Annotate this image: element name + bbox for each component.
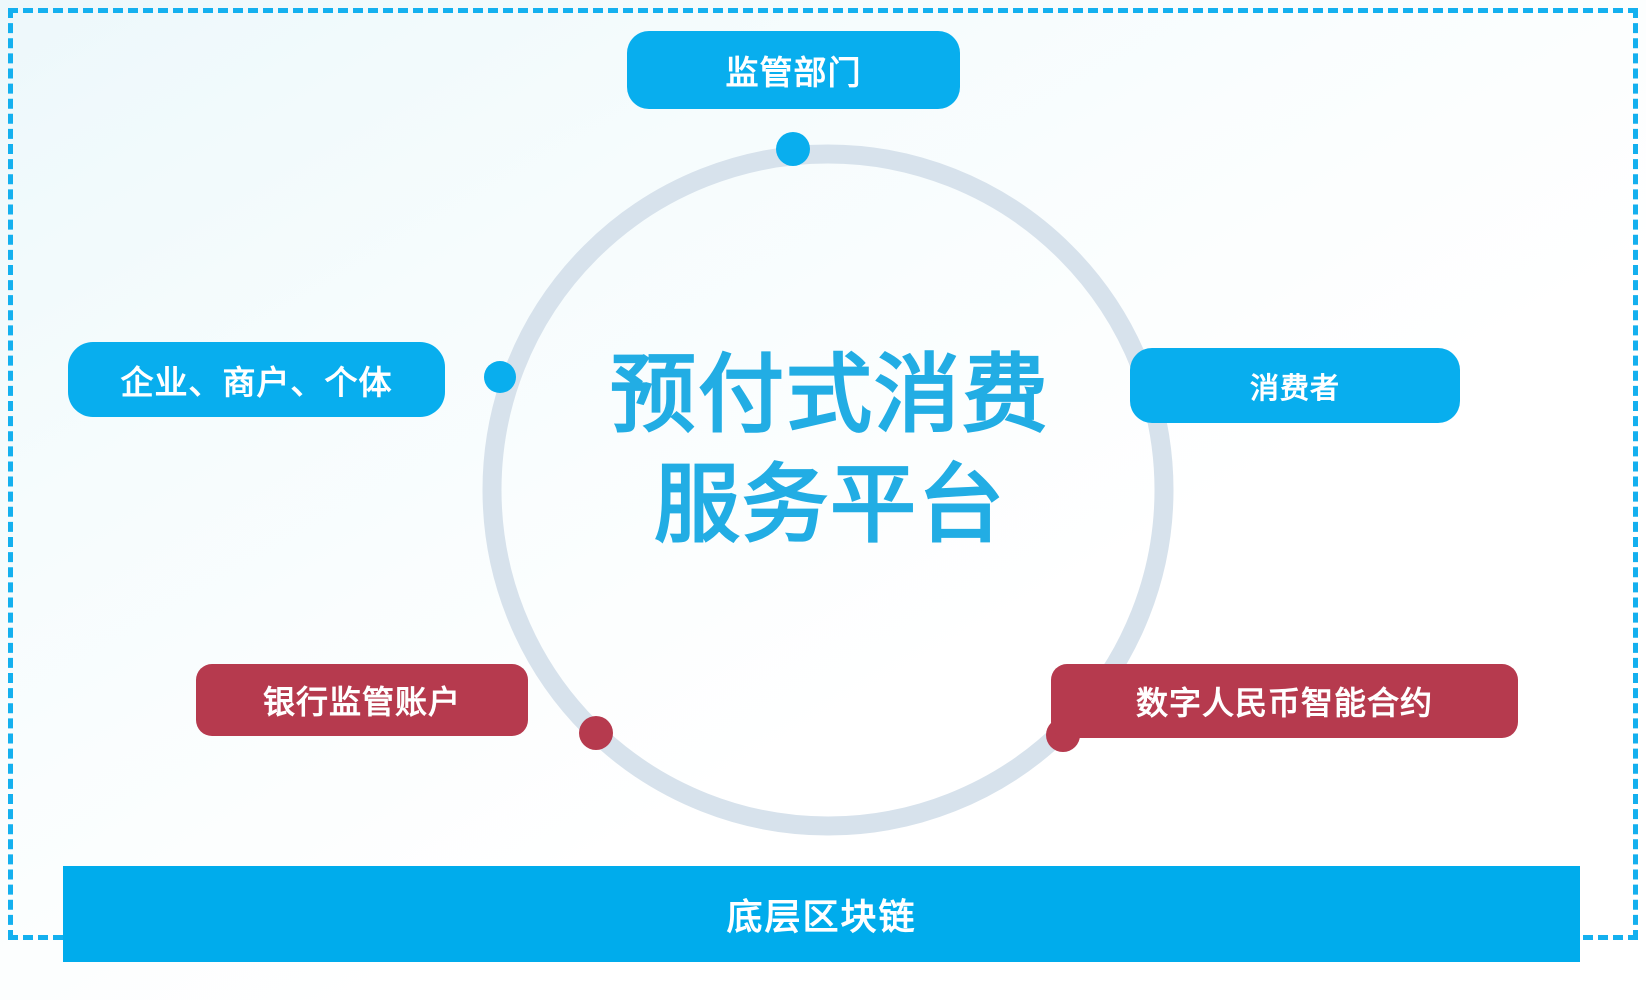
node-business[interactable]: 企业、商户、个体 xyxy=(68,342,445,417)
node-regulator[interactable]: 监管部门 xyxy=(627,31,960,109)
center-title: 预付式消费 服务平台 xyxy=(560,340,1100,560)
node-business-label: 企业、商户、个体 xyxy=(121,356,393,404)
node-bank-account[interactable]: 银行监管账户 xyxy=(196,664,528,736)
diagram-canvas: 预付式消费 服务平台 监管部门 企业、商户、个体 消费者 银行监管账户 数字人民… xyxy=(0,0,1646,1000)
node-bank-account-label: 银行监管账户 xyxy=(263,677,461,723)
node-dot-bank xyxy=(579,716,613,750)
node-dot-business xyxy=(484,361,516,393)
node-smart-contract[interactable]: 数字人民币智能合约 xyxy=(1051,664,1518,738)
node-consumer[interactable]: 消费者 xyxy=(1130,348,1460,423)
node-dot-regulator xyxy=(776,132,810,166)
node-smart-contract-label: 数字人民币智能合约 xyxy=(1136,678,1433,724)
node-consumer-label: 消费者 xyxy=(1250,365,1340,407)
foundation-bar-label: 底层区块链 xyxy=(726,888,916,940)
foundation-bar[interactable]: 底层区块链 xyxy=(63,866,1580,962)
node-regulator-label: 监管部门 xyxy=(726,46,862,94)
